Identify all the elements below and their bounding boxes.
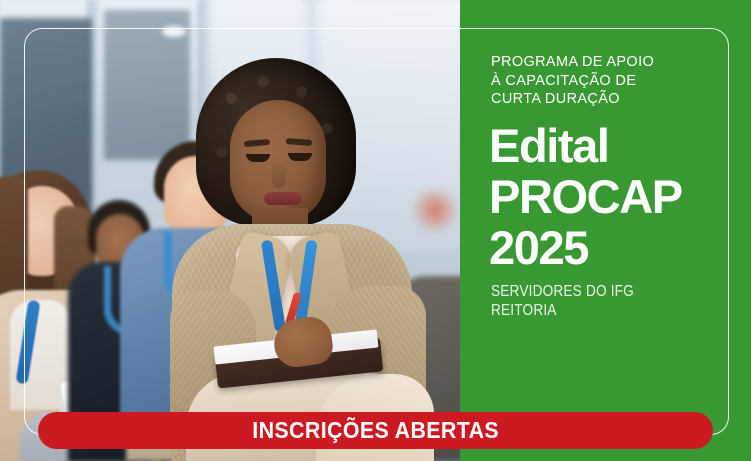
warm-bokeh-light	[408, 188, 460, 232]
event-photo	[0, 0, 460, 461]
foreground-woman-lips	[264, 192, 302, 205]
banner-subline: SERVIDORES DO IFG REITORIA	[491, 282, 634, 320]
registrations-open-label: INSCRIÇÕES ABERTAS	[252, 417, 499, 444]
program-kicker-text: PROGRAMA DE APOIO À CAPACITAÇÃO DE CURTA…	[491, 53, 654, 109]
foreground-woman-nose	[272, 162, 286, 188]
ceiling-light-icon	[162, 26, 186, 37]
ceiling-light-icon	[332, 22, 350, 30]
banner-headline: Edital PROCAP 2025	[489, 120, 682, 273]
promo-banner: PROGRAMA DE APOIO À CAPACITAÇÃO DE CURTA…	[0, 0, 751, 461]
registrations-open-banner[interactable]: INSCRIÇÕES ABERTAS	[38, 412, 713, 449]
